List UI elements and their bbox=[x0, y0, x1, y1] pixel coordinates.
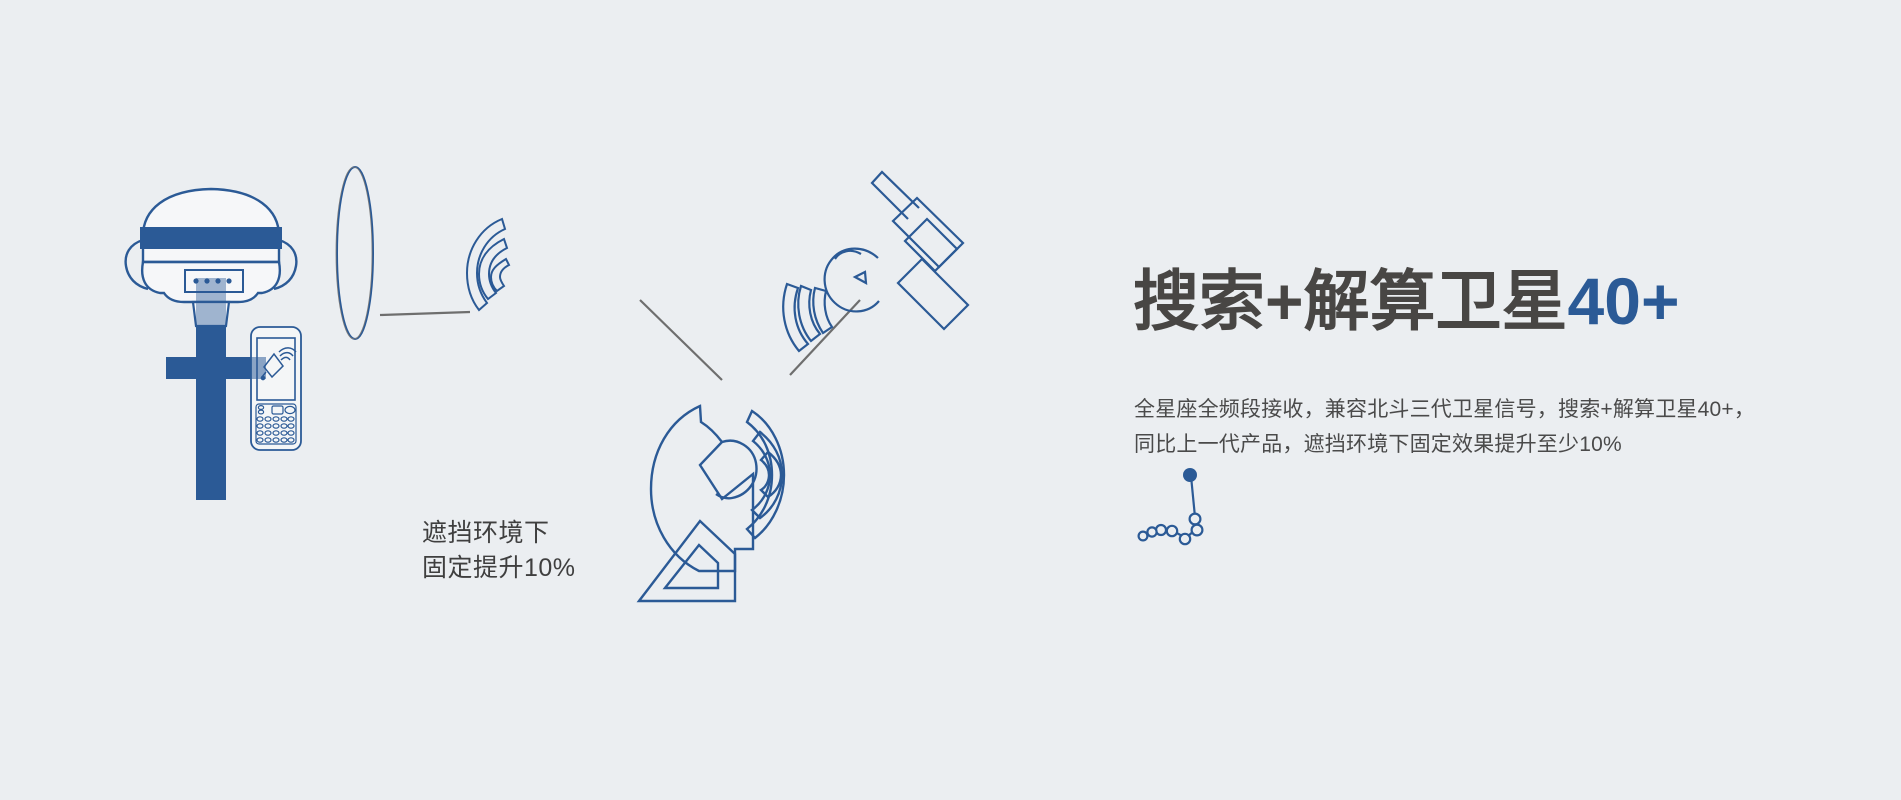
link-line-waves-to-dish bbox=[640, 300, 722, 380]
node-4 bbox=[1167, 526, 1177, 536]
link-line-ellipse-to-waves bbox=[380, 312, 470, 315]
ground-station-dish bbox=[639, 406, 784, 601]
obstruction-ellipse bbox=[337, 167, 373, 339]
page-title: 搜索+解算卫星40+ bbox=[1133, 262, 1680, 340]
gnss-receiver bbox=[126, 189, 297, 326]
node-chain-decoration bbox=[1133, 465, 1263, 565]
signal-waves bbox=[467, 219, 509, 310]
obstruction-caption: 遮挡环境下 固定提升10% bbox=[422, 516, 576, 586]
headline-accent-text: 40+ bbox=[1568, 264, 1680, 338]
body-description: 全星座全频段接收，兼容北斗三代卫星信号，搜索+解算卫星40+，同比上一代产品，遮… bbox=[1134, 392, 1759, 462]
caption-line-2: 固定提升10% bbox=[422, 551, 576, 586]
handheld-controller bbox=[251, 327, 301, 450]
node-5 bbox=[1156, 525, 1166, 535]
gnss-product-banner: 遮挡环境下 固定提升10% 搜索+解算卫星40+ 全星座全频段接收，兼容北斗三代… bbox=[0, 0, 1901, 800]
text-panel: 搜索+解算卫星40+ 全星座全频段接收，兼容北斗三代卫星信号，搜索+解算卫星40… bbox=[1133, 0, 1833, 800]
node-2 bbox=[1192, 525, 1203, 536]
caption-line-1: 遮挡环境下 bbox=[422, 516, 576, 551]
link-lines bbox=[380, 300, 860, 380]
node-6 bbox=[1147, 527, 1156, 536]
node-7 bbox=[1139, 532, 1148, 541]
node-primary bbox=[1183, 468, 1197, 482]
satellite bbox=[783, 172, 968, 351]
headline-main-text: 搜索+解算卫星 bbox=[1133, 264, 1568, 338]
illustration-area: 遮挡环境下 固定提升10% bbox=[0, 0, 1100, 800]
node-1 bbox=[1190, 514, 1201, 525]
node-3 bbox=[1180, 534, 1190, 544]
